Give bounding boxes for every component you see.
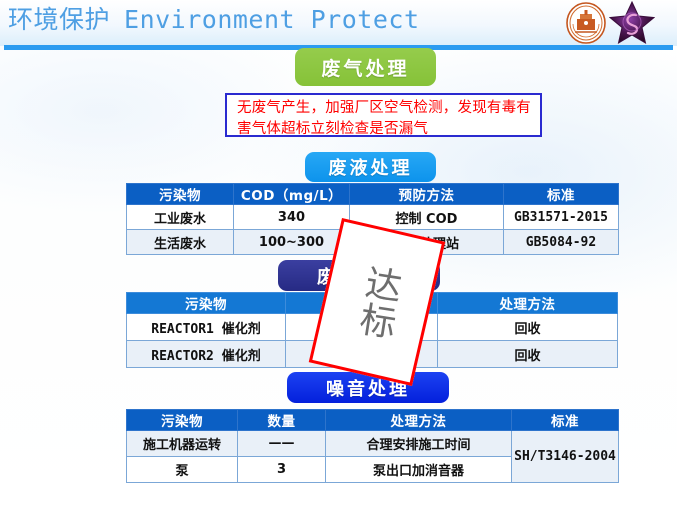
section-pill-noise[interactable]: 噪音处理 [287, 372, 449, 403]
col-header-standard: 标准 [504, 184, 619, 205]
table-row: 施工机器运转 —— 合理安排施工时间 SH/T3146-2004 [127, 431, 619, 457]
col-header-prevention: 预防方法 [350, 184, 504, 205]
cell-quantity: —— [238, 431, 326, 457]
compliance-stamp-text: 达标 [349, 262, 404, 342]
col-header-pollutant: 污染物 [127, 184, 234, 205]
cell-standard-merged: SH/T3146-2004 [512, 431, 619, 483]
cell-pollutant: 泵 [127, 457, 238, 483]
cell-treatment: 泵出口加消音器 [326, 457, 512, 483]
table-header-row: 污染物 COD（mg/L） 预防方法 标准 [127, 184, 619, 205]
section-pill-waste-gas[interactable]: 废气处理 [295, 48, 436, 86]
cell-standard: GB5084-92 [504, 230, 619, 255]
col-header-cod: COD（mg/L） [234, 184, 350, 205]
cell-quantity: 3 [238, 457, 326, 483]
page-title-cn: 环境保护 [8, 5, 110, 34]
noise-table: 污染物 数量 处理方法 标准 施工机器运转 —— 合理安排施工时间 SH/T31… [126, 409, 619, 483]
waste-gas-note-text: 无废气产生，加强厂区空气检测，发现有毒有害气体超标立刻检查是否漏气 [237, 98, 532, 140]
col-header-standard: 标准 [512, 410, 619, 431]
cell-pollutant: REACTOR2 催化剂 [127, 341, 286, 368]
cell-cod: 340 [234, 205, 350, 230]
cell-treatment: 回收 [438, 341, 618, 368]
cell-pollutant: 施工机器运转 [127, 431, 238, 457]
purple-star-logo-icon [609, 1, 655, 45]
col-header-quantity: 数量 [238, 410, 326, 431]
cell-treatment: 回收 [438, 314, 618, 341]
cell-standard: GB31571-2015 [504, 205, 619, 230]
cell-treatment: 合理安排施工时间 [326, 431, 512, 457]
col-header-treatment: 处理方法 [438, 293, 618, 314]
col-header-treatment: 处理方法 [326, 410, 512, 431]
col-header-pollutant: 污染物 [127, 410, 238, 431]
section-pill-waste-liquid[interactable]: 废液处理 [305, 152, 436, 182]
slide-canvas: 环境保护Environment Protect [0, 0, 677, 505]
table-header-row: 污染物 数量 处理方法 标准 [127, 410, 619, 431]
cell-pollutant: 工业废水 [127, 205, 234, 230]
page-title-en: Environment Protect [124, 5, 419, 34]
waste-gas-note-box: 无废气产生，加强厂区空气检测，发现有毒有害气体超标立刻检查是否漏气 [225, 93, 542, 137]
logo-group [565, 1, 671, 45]
cell-pollutant: 生活废水 [127, 230, 234, 255]
page-title: 环境保护Environment Protect [8, 4, 420, 36]
cell-pollutant: REACTOR1 催化剂 [127, 314, 286, 341]
col-header-pollutant: 污染物 [127, 293, 286, 314]
university-seal-icon [565, 2, 607, 44]
cell-cod: 100~300 [234, 230, 350, 255]
